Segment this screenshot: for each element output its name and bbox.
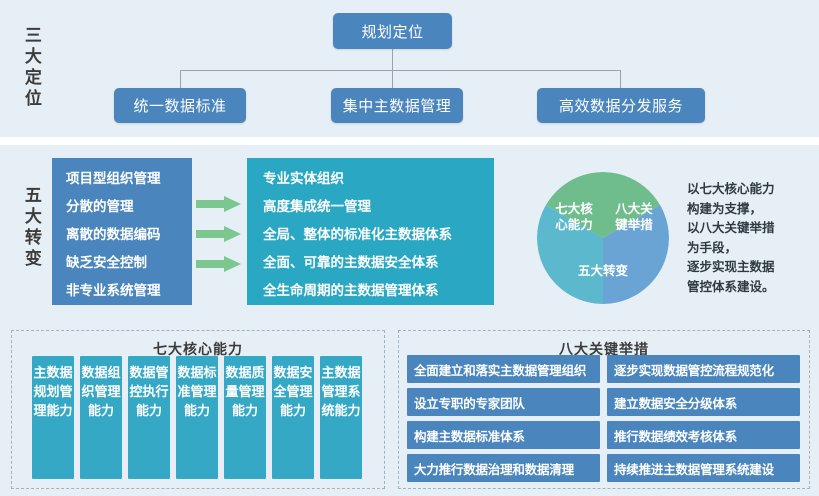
summary-text: 以七大核心能力 构建为支撑， 以八大关键举措 为手段， 逐步实现主数据 管控体系… bbox=[687, 180, 815, 297]
measure-card[interactable]: 大力推行数据治理和数据清理 bbox=[407, 454, 600, 482]
measure-card[interactable]: 持续推进主数据管理系统建设 bbox=[607, 454, 800, 482]
measure-card[interactable]: 逐步实现数据管控流程规范化 bbox=[607, 355, 800, 383]
list-item: 非专业系统管理 bbox=[66, 277, 192, 305]
capability-card[interactable]: 主数据管理系统能力 bbox=[320, 356, 362, 479]
pie-svg bbox=[537, 172, 669, 304]
current-state-list: 项目型组织管理 分散的管理 离散的数据编码 缺乏安全控制 非专业系统管理 bbox=[52, 158, 192, 305]
infographic-page: 三大定位 规划定位 统一数据标准 集中主数据管理 高效数据分发服务 五大转变 项… bbox=[0, 0, 819, 496]
connector-horizontal-bar bbox=[180, 70, 621, 71]
node-child-centralized-master-data-management[interactable]: 集中主数据管理 bbox=[331, 88, 463, 123]
list-item: 项目型组织管理 bbox=[66, 165, 192, 193]
capability-card[interactable]: 主数据规划管理能力 bbox=[32, 356, 74, 479]
list-item: 全面、可靠的主数据安全体系 bbox=[263, 249, 494, 277]
measure-card[interactable]: 全面建立和落实主数据管理组织 bbox=[407, 355, 600, 383]
pie-label-core-capabilities: 七大核 心能力 bbox=[546, 201, 602, 233]
pie-label-five-transformations: 五大转变 bbox=[563, 263, 643, 279]
transformation-arrows bbox=[196, 193, 244, 283]
node-child-unified-data-standard[interactable]: 统一数据标准 bbox=[114, 88, 246, 123]
pie-label-key-measures: 八大关 键举措 bbox=[606, 201, 662, 233]
section-label-five-transformations: 五大转变 bbox=[22, 186, 40, 270]
list-item: 全生命周期的主数据管理体系 bbox=[263, 277, 494, 305]
connector-stem bbox=[392, 49, 393, 71]
list-item: 缺乏安全控制 bbox=[66, 249, 192, 277]
list-item: 离散的数据编码 bbox=[66, 221, 192, 249]
connector-drop-1 bbox=[180, 70, 181, 88]
capability-card[interactable]: 数据安全管理能力 bbox=[272, 356, 314, 479]
list-item: 专业实体组织 bbox=[263, 165, 494, 193]
node-child-efficient-data-distribution-service[interactable]: 高效数据分发服务 bbox=[537, 88, 705, 123]
key-measure-grid: 全面建立和落实主数据管理组织 逐步实现数据管控流程规范化 设立专职的专家团队 建… bbox=[407, 355, 800, 482]
list-item: 全局、整体的标准化主数据体系 bbox=[263, 221, 494, 249]
panel-current-state: 项目型组织管理 分散的管理 离散的数据编码 缺乏安全控制 非专业系统管理 bbox=[52, 158, 192, 305]
measure-card[interactable]: 建立数据安全分级体系 bbox=[607, 388, 800, 416]
arrow-right-icon bbox=[196, 256, 242, 272]
arrow-right-icon bbox=[196, 196, 242, 212]
measure-card[interactable]: 构建主数据标准体系 bbox=[407, 421, 600, 449]
list-item: 分散的管理 bbox=[66, 193, 192, 221]
capability-card[interactable]: 数据组织管理能力 bbox=[80, 356, 122, 479]
overview-pie-chart bbox=[537, 172, 669, 304]
list-item: 高度集成统一管理 bbox=[263, 193, 494, 221]
capability-card[interactable]: 数据标准管理能力 bbox=[176, 356, 218, 479]
measure-card[interactable]: 推行数据绩效考核体系 bbox=[607, 421, 800, 449]
section-label-three-positions: 三大定位 bbox=[22, 26, 40, 110]
core-capability-columns: 主数据规划管理能力 数据组织管理能力 数据管控执行能力 数据标准管理能力 数据质… bbox=[11, 356, 383, 479]
node-root-planning-position[interactable]: 规划定位 bbox=[333, 13, 452, 49]
arrow-right-icon bbox=[196, 226, 242, 242]
measure-card[interactable]: 设立专职的专家团队 bbox=[407, 388, 600, 416]
target-state-list: 专业实体组织 高度集成统一管理 全局、整体的标准化主数据体系 全面、可靠的主数据… bbox=[247, 158, 494, 305]
panel-target-state: 专业实体组织 高度集成统一管理 全局、整体的标准化主数据体系 全面、可靠的主数据… bbox=[247, 158, 494, 305]
connector-drop-3 bbox=[620, 70, 621, 88]
connector-drop-2 bbox=[392, 70, 393, 88]
capability-card[interactable]: 数据质量管理能力 bbox=[224, 356, 266, 479]
capability-card[interactable]: 数据管控执行能力 bbox=[128, 356, 170, 479]
